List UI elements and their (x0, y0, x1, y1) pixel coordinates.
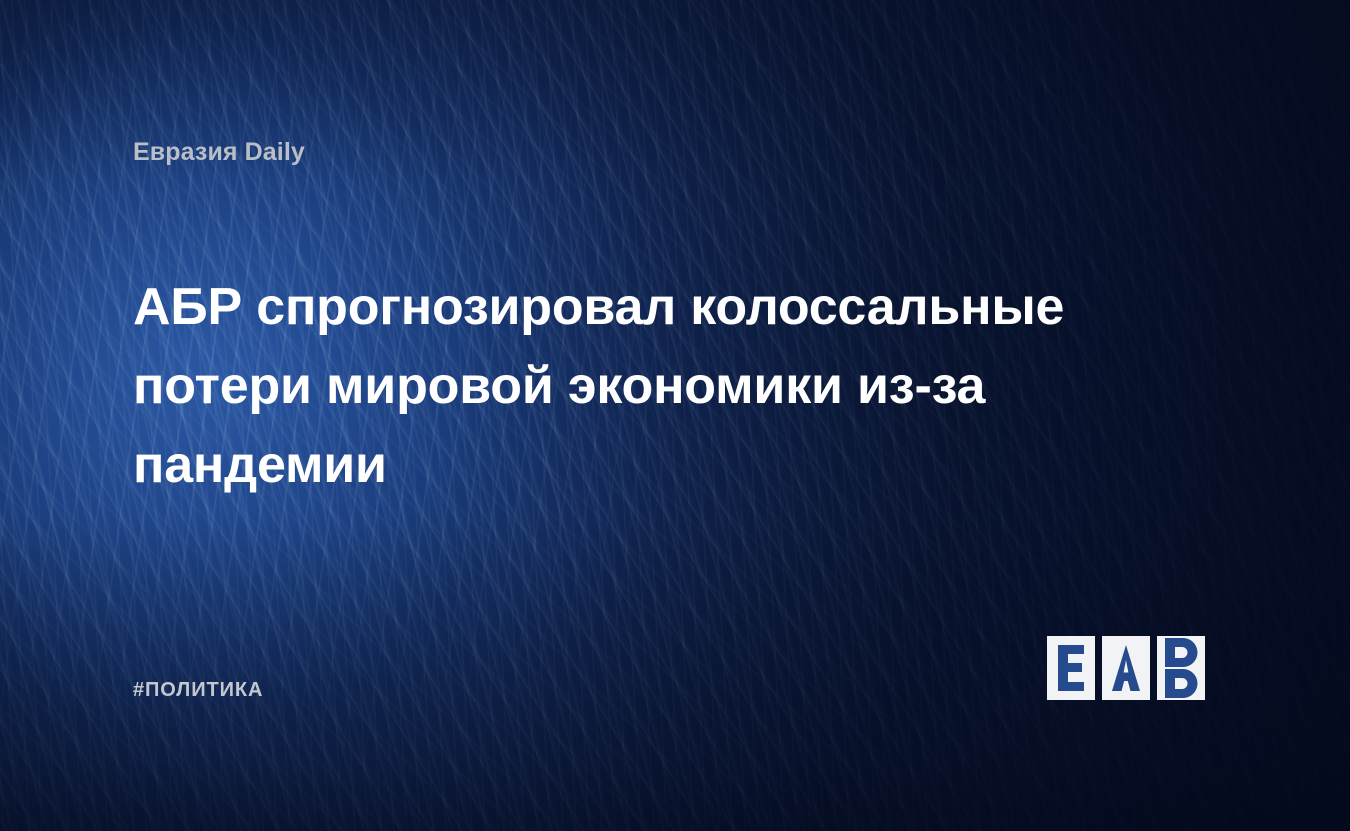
logo-tile-a (1102, 636, 1150, 700)
logo-tile-d (1157, 636, 1205, 700)
logo-tile-e (1047, 636, 1095, 700)
category-tag: #ПОЛИТИКА (133, 679, 263, 702)
news-cover-card: Евразия Daily АБР спрогнозировал колосса… (0, 0, 1350, 831)
card-content: Евразия Daily АБР спрогнозировал колосса… (0, 0, 1350, 831)
eadaily-logo (1047, 636, 1205, 700)
headline-title: АБР спрогнозировал колоссальные потери м… (133, 268, 1113, 505)
brand-wordmark: Евразия Daily (133, 138, 305, 167)
